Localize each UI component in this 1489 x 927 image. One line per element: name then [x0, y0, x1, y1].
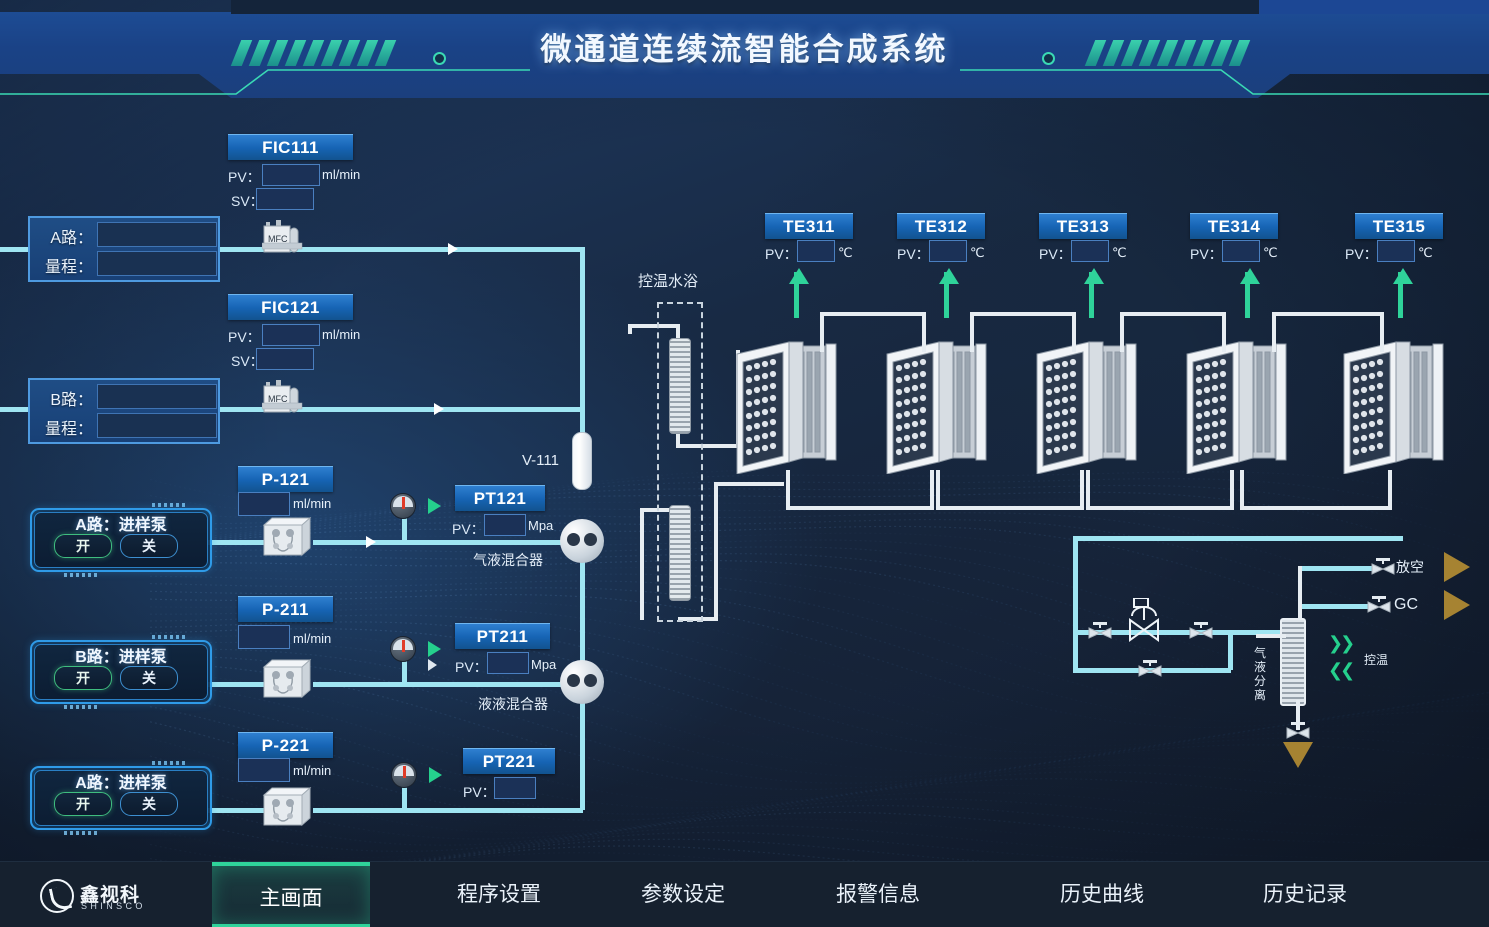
temp-control-chevron-in-icon: ❯❯ [1328, 633, 1352, 654]
pump-panel-a2-title: A路：进样泵 [30, 769, 212, 793]
p211-value[interactable] [238, 625, 290, 649]
page-title: 微通道连续流智能合成系统 [0, 24, 1489, 69]
liquid-liquid-mixer-icon [560, 660, 604, 704]
gc-arrow-icon [1444, 590, 1470, 620]
temp-control-label: 控温 [1364, 651, 1388, 668]
reactor-link-top-3v [1120, 312, 1124, 352]
pump-icon-a2 [258, 785, 314, 831]
logo-mark-icon [40, 879, 74, 913]
reactor-module-2 [883, 338, 999, 474]
pump-a2-off-button[interactable]: 关 [120, 792, 178, 816]
pump-a2-on-button[interactable]: 开 [54, 792, 112, 816]
header: 微通道连续流智能合成系统 [0, 0, 1489, 96]
pt211-pv-value[interactable] [487, 652, 529, 674]
nav-tab-history-record[interactable]: 历史记录 [1226, 862, 1384, 927]
gas-line-a-row: A路： [35, 222, 213, 248]
reactor-link-top-4v2 [1380, 312, 1384, 352]
waterpipe-12 [714, 482, 784, 486]
gas-line-b-value[interactable] [97, 384, 217, 409]
te311-unit: ℃ [838, 245, 853, 261]
pipe-mixer-link2 [580, 700, 585, 810]
pt121-pv-label: PV： [452, 519, 485, 539]
reactor-link-bot-2v2 [1080, 470, 1084, 510]
vent-label: 放空 [1396, 557, 1424, 577]
reactor-link-top-2 [970, 312, 1076, 316]
pump-panel-a2: A路：进样泵 开 关 [30, 766, 212, 830]
pipe-pump-b2 [313, 682, 583, 687]
gas-line-b-range-row: 量程： [35, 413, 213, 439]
pipe-gas-b2 [306, 407, 584, 412]
te314-tag: TE314 [1190, 213, 1278, 239]
te314-unit: ℃ [1263, 245, 1278, 261]
nav-tab-main[interactable]: 主画面 [212, 862, 370, 927]
pt211-arrow-icon [428, 641, 441, 657]
gas-line-b-panel: B路： 量程： [28, 378, 220, 444]
svg-text:MFC: MFC [268, 234, 288, 244]
fic111-unit: ml/min [322, 167, 360, 182]
pressure-gauge-221-icon [391, 762, 417, 788]
mfc-111: MFC [262, 217, 306, 257]
bypass-valve-left-icon[interactable] [1087, 622, 1113, 640]
gas-liquid-mixer-icon [560, 519, 604, 563]
pump-panel-b-deco-bot [64, 705, 98, 709]
te311-pv-value[interactable] [797, 240, 835, 262]
pipe-product-down [1073, 536, 1078, 634]
pt211-pv-label: PV： [455, 657, 488, 677]
nav-tab-alarm-info[interactable]: 报警信息 [799, 862, 957, 927]
te313-pv-value[interactable] [1071, 240, 1109, 262]
gas-line-b-range-label: 量程： [37, 415, 93, 439]
reactor-link-top-2v2 [1072, 312, 1076, 352]
logo-en-name: SHINSCO [81, 901, 146, 911]
gas-line-b-label: B路： [37, 386, 93, 410]
p211-tag: P-211 [238, 596, 333, 622]
separator-drain-valve-icon[interactable] [1285, 722, 1311, 740]
reactor-link-bot-3 [1086, 506, 1234, 510]
te313-pv-label: PV： [1039, 244, 1072, 264]
fic111-pv-label: PV： [228, 167, 261, 187]
reactor-link-bot-4 [1240, 506, 1392, 510]
te311-arrow-icon [789, 268, 809, 284]
p221-tag: P-221 [238, 732, 333, 758]
pipe-vent [1300, 566, 1372, 571]
header-notch [231, 0, 1259, 14]
mixer2-port-1 [567, 674, 580, 687]
gas-line-a-range-value[interactable] [97, 251, 217, 276]
reactor-link-top-1v [820, 312, 824, 352]
pipe-gas-a2 [306, 247, 584, 252]
te312-pv-value[interactable] [929, 240, 967, 262]
gauge-needle-211 [402, 640, 405, 652]
bottom-navbar: 鑫视科 SHINSCO 主画面 程序设置 参数设定 报警信息 历史曲线 历史记录 [0, 861, 1489, 927]
reactor-link-top-1v2 [922, 312, 926, 352]
gas-liquid-mixer-label: 气液混合器 [473, 550, 543, 570]
reactor-link-top-1 [820, 312, 926, 316]
te313-unit: ℃ [1112, 245, 1127, 261]
pt221-pv-value[interactable] [494, 777, 536, 799]
gc-valve-icon[interactable] [1366, 596, 1392, 614]
reactor-module-5 [1340, 338, 1456, 474]
te315-tag: TE315 [1355, 213, 1443, 239]
mfc-121: MFC [262, 377, 306, 417]
pt211-tag: PT211 [455, 623, 550, 649]
gauge-needle-221 [403, 766, 406, 778]
te313-tag: TE313 [1039, 213, 1127, 239]
brand-logo: 鑫视科 SHINSCO [40, 878, 210, 916]
mixer2-port-2 [584, 674, 597, 687]
reactor-module-1 [733, 338, 849, 474]
pump-panel-b: B路：进样泵 开 关 [30, 640, 212, 704]
pipe-pump-a2 [313, 540, 583, 545]
pump-panel-a-deco-bot [64, 573, 98, 577]
flow-arrow-pump-a [366, 536, 376, 548]
te314-pv-label: PV： [1190, 244, 1223, 264]
te312-pv-label: PV： [897, 244, 930, 264]
pt211-unit: Mpa [531, 657, 556, 672]
reactor-link-top-4v [1272, 312, 1276, 352]
reactor-link-bot-4v [1240, 470, 1244, 510]
mixer-port-1 [567, 533, 580, 546]
waterpipe-11 [714, 482, 718, 620]
separator-inlet [1256, 634, 1286, 638]
pt121-arrow-icon [428, 498, 441, 514]
bath-coil-2 [669, 505, 691, 601]
mixer-port-2 [584, 533, 597, 546]
gc-label: GC [1394, 596, 1418, 614]
p221-value[interactable] [238, 758, 290, 782]
p221-unit: ml/min [293, 763, 331, 778]
liquid-liquid-mixer-label: 液液混合器 [478, 694, 548, 714]
reactor-link-top-3 [1120, 312, 1226, 316]
gas-liquid-separator-icon [1280, 618, 1306, 706]
te315-pv-label: PV： [1345, 244, 1378, 264]
pump-panel-b-deco-top [152, 635, 186, 639]
pump-panel-a-deco-top [152, 503, 186, 507]
nav-tab-parameter-settings[interactable]: 参数设定 [604, 862, 762, 927]
p121-value[interactable] [238, 492, 290, 516]
gas-line-a-panel: A路： 量程： [28, 216, 220, 282]
separator-label-text: 气液分离 [1254, 646, 1266, 702]
reactor-link-top-2v [970, 312, 974, 352]
reactor-link-bot-3v2 [1230, 470, 1234, 510]
fic121-pv-label: PV： [228, 327, 261, 347]
te315-unit: ℃ [1418, 245, 1433, 261]
te312-unit: ℃ [970, 245, 985, 261]
pump-a-on-button[interactable]: 开 [54, 534, 112, 558]
fic121-tag: FIC121 [228, 294, 353, 320]
vent-arrow-icon [1444, 552, 1470, 582]
pump-panel-b-title: B路：进样泵 [30, 643, 212, 667]
pipe-pump-a2route2 [313, 808, 583, 813]
pt121-pv-value[interactable] [484, 514, 526, 536]
reactor-link-top-4 [1272, 312, 1384, 316]
pt221-pv-label: PV： [463, 782, 496, 802]
te314-arrow-icon [1240, 268, 1260, 284]
te311-pv-label: PV： [765, 244, 798, 264]
separator-label: 气液分离 [1254, 646, 1270, 702]
fic121-unit: ml/min [322, 327, 360, 342]
pressure-gauge-121-icon [390, 493, 416, 519]
reactor-link-bot-1 [786, 506, 934, 510]
nav-tab-history-curve[interactable]: 历史曲线 [1023, 862, 1181, 927]
pump-panel-a2-deco-top [152, 761, 186, 765]
te315-arrow-icon [1393, 268, 1413, 284]
pt121-unit: Mpa [528, 518, 553, 533]
te311-tag: TE311 [765, 213, 853, 239]
v111-label: V-111 [522, 452, 559, 469]
header-right-block [1259, 0, 1489, 14]
pipe-bypass-left [1073, 630, 1078, 670]
gas-line-a-range-label: 量程： [37, 253, 93, 277]
p121-tag: P-121 [238, 466, 333, 492]
te313-arrow-icon [1084, 268, 1104, 284]
pipe-product-out [1073, 536, 1403, 541]
pump-panel-a-title: A路：进样泵 [30, 511, 212, 535]
reactor-link-bot-2 [936, 506, 1084, 510]
reactor-module-3 [1033, 338, 1149, 474]
pt221-arrow-icon [429, 767, 442, 783]
flow-arrow-pump-b [428, 659, 437, 671]
reactor-link-bot-1v [786, 470, 790, 510]
reactor-link-bot-3v [1086, 470, 1090, 510]
reactor-link-bot-1v2 [930, 470, 934, 510]
gas-line-a-range-row: 量程： [35, 251, 213, 277]
hmi-screen: 微通道连续流智能合成系统 控温水浴 [0, 0, 1489, 927]
reactor-link-bot-2v [936, 470, 940, 510]
pump-icon-a [258, 515, 314, 561]
drain-arrow-icon [1283, 742, 1313, 768]
p211-unit: ml/min [293, 631, 331, 646]
fic111-pv-value[interactable] [262, 164, 320, 186]
bypass-valve-right-icon[interactable] [1188, 622, 1214, 640]
control-valve-icon[interactable] [1124, 598, 1164, 642]
te312-arrow-icon [939, 268, 959, 284]
reactor-module-4 [1183, 338, 1299, 474]
te314-pv-value[interactable] [1222, 240, 1260, 262]
nav-tab-program-settings[interactable]: 程序设置 [420, 862, 578, 927]
gas-line-a-label: A路： [37, 224, 93, 248]
te315-pv-value[interactable] [1377, 240, 1415, 262]
fic111-tag: FIC111 [228, 134, 353, 160]
waterpipe-2 [628, 324, 632, 334]
gas-line-b-range-value[interactable] [97, 413, 217, 438]
bypass-valve-bottom-icon[interactable] [1137, 660, 1163, 678]
pump-a-off-button[interactable]: 关 [120, 534, 178, 558]
pump-b-on-button[interactable]: 开 [54, 666, 112, 690]
gas-line-a-value[interactable] [97, 222, 217, 247]
gauge-needle-121 [402, 497, 405, 509]
v111-valve-icon [572, 432, 592, 490]
fic121-pv-value[interactable] [262, 324, 320, 346]
pressure-gauge-211-icon [390, 636, 416, 662]
p121-unit: ml/min [293, 496, 331, 511]
svg-text:MFC: MFC [268, 394, 288, 404]
reactor-link-top-3v2 [1222, 312, 1226, 352]
waterpipe-8 [640, 508, 644, 620]
flow-arrow-gas-b [434, 403, 444, 415]
pump-b-off-button[interactable]: 关 [120, 666, 178, 690]
pump-icon-b [258, 657, 314, 703]
bath-coil-1 [669, 338, 691, 434]
pt121-tag: PT121 [455, 485, 545, 511]
pt221-tag: PT221 [463, 748, 555, 774]
fic121-sv-value[interactable] [256, 348, 314, 370]
pipe-gc [1300, 604, 1368, 609]
pump-panel-a2-deco-bot [64, 831, 98, 835]
flow-arrow-gas-a [448, 243, 458, 255]
te312-tag: TE312 [897, 213, 985, 239]
pipe-bypass-right [1228, 630, 1233, 670]
pump-panel-a: A路：进样泵 开 关 [30, 508, 212, 572]
fic111-sv-value[interactable] [256, 188, 314, 210]
pipe-trunk-vertical [580, 247, 585, 462]
reactor-link-bot-4v2 [1388, 470, 1392, 510]
water-bath-label: 控温水浴 [638, 270, 698, 291]
temp-control-chevron-out-icon: ❮❮ [1328, 660, 1352, 681]
vent-valve-icon[interactable] [1370, 558, 1396, 576]
gas-line-b-row: B路： [35, 384, 213, 410]
